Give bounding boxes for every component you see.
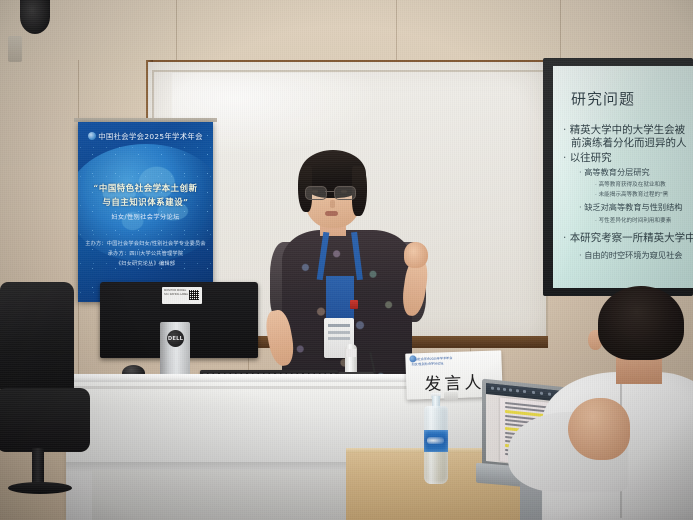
poster-title-line-2: 与自主知识体系建设” [78,196,213,208]
bullet-glyph: · [579,167,582,177]
nameplate-org: 中国社会学会2025年学术年会 妇女/性别社会学分论坛 [411,356,452,367]
audience-hair [598,286,684,360]
audience-hand [568,398,630,460]
qr-code-icon [189,290,199,300]
speaker-mount [8,36,22,62]
slide-detail-3: 写性差异化的时间利用和要素 [599,218,672,224]
projection-screen: 研究问题 · 精英大学中的大学生会被 前演练着分化而迥异的人 · 以往研究 · … [553,66,693,288]
wall-seam [560,0,561,58]
society-logo-icon [88,132,96,140]
water-bottle [424,396,448,484]
monitor-spec-sticker: MONITOR MODEL SN / RATING LABEL [162,287,202,304]
bullet-glyph: · [579,250,582,260]
bullet-glyph: · [579,202,582,212]
slide-sub-3: 自由的时空环境为窥见社会 [584,250,682,260]
glasses-icon [305,186,327,200]
audience-member [520,286,693,520]
chair-seat [0,388,90,452]
chair-base [8,482,72,494]
presenter-nose [330,200,335,208]
presenter-mouth [325,211,338,216]
bullet-glyph: · [595,192,597,198]
conference-room-photo: 研究问题 · 精英大学中的大学生会被 前演练着分化而迥异的人 · 以往研究 · … [0,0,693,520]
bullet-glyph: · [563,124,566,136]
slide-bullet-3: 本研究考察一所精英大学中 [570,232,693,244]
slide-bullet-1-cont: 前演练着分化而迥异的人 [571,137,687,149]
wall-seam [396,0,397,62]
slide-bullet-2: 以往研究 [570,152,612,164]
poster-org-1: 主办方：中国社会学会妇女/性别社会学专业委员会 [78,240,213,247]
conference-poster: 中国社会学会2025年学术年会 “中国特色社会学本土创新 与自主知识体系建设” … [78,122,213,302]
slide-heading: 研究问题 [571,88,635,109]
bottle-label [424,430,448,452]
bullet-glyph: · [563,232,566,244]
slide-bullet-1: 精英大学中的大学生会被 [570,124,686,136]
bullet-glyph: · [563,152,566,164]
poster-subtitle: 妇女/性别社会学分论坛 [78,212,213,221]
nameplate-org-line-2: 妇女/性别社会学分论坛 [412,361,453,367]
presenter-hand-right [404,242,428,268]
poster-org-2: 承办方：四川大学公共管理学院 [78,250,213,257]
lanyard-center [326,276,354,320]
glasses-bridge [325,191,334,192]
office-chair[interactable] [0,282,96,520]
poster-title-line-1: “中国特色社会学本土创新 [78,182,213,194]
wall-seam [176,0,177,62]
flag-pin-icon [350,300,358,309]
slide-detail-1: 高等教育获得及在就业和教 [599,182,666,188]
bullet-glyph: · [595,218,597,224]
bullet-glyph: · [595,182,597,188]
poster-header: 中国社会学会2025年学术年会 [78,131,213,142]
chair-backrest [0,282,74,394]
ceiling-speaker-icon [20,0,50,34]
glasses-icon [334,186,356,200]
poster-header-text: 中国社会学会2025年学术年会 [98,132,203,141]
mic-label [346,349,356,357]
slide-sub-2: 缺乏对高等教育与性别结构 [584,202,682,212]
slide-detail-2: 未能揭示高等教育过程的"黑 [599,192,669,198]
slide-sub-1: 高等教育分层研究 [584,167,650,177]
poster-org-3: 《妇女研究论丛》编辑部 [78,260,213,267]
dell-logo: DELL [167,330,184,347]
